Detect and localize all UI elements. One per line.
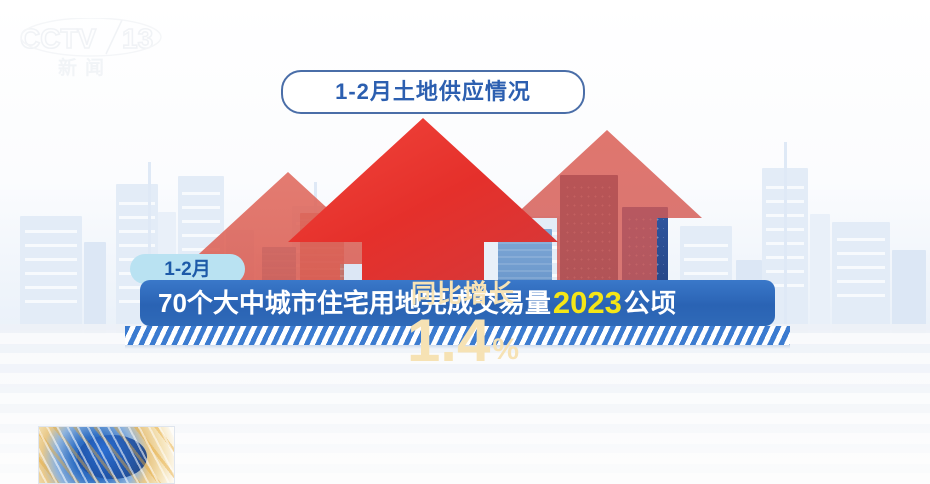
thumbnail-swoosh-light (38, 426, 175, 484)
cctv13-logo: CCTV 13 新闻 (18, 18, 168, 78)
period-tag-label: 1-2月 (164, 260, 210, 279)
svg-text:13: 13 (122, 23, 153, 54)
banner-number: 2023 (551, 285, 624, 321)
growth-label: 同比增长 (383, 282, 543, 307)
broadcast-graphic: 同比增长 1.4 % 1-2月土地供应情况 1-2月 70个大中城市住宅用地完成… (0, 0, 930, 484)
percent-sign: % (492, 335, 519, 365)
page-title: 1-2月土地供应情况 (335, 81, 531, 103)
growth-value-row: 1.4 % (383, 311, 543, 371)
growth-value: 1.4 (407, 311, 490, 371)
banner-suffix: 公顷 (624, 290, 676, 316)
svg-text:新闻: 新闻 (58, 56, 112, 78)
chart-title-pill: 1-2月土地供应情况 (281, 70, 585, 114)
news-globe-thumbnail (38, 426, 175, 484)
growth-annotation: 同比增长 1.4 % (383, 282, 543, 371)
